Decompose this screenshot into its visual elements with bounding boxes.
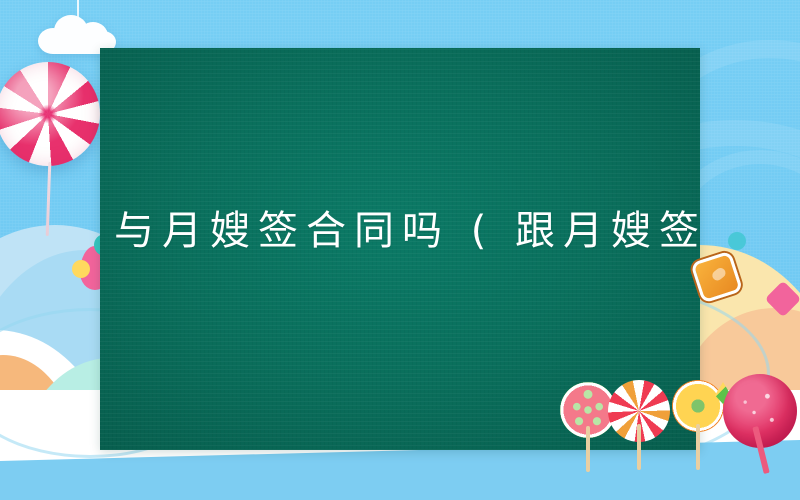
citrus-lollipop-icon [672,380,724,468]
pink-round-lollipop-icon [723,374,797,478]
poster-canvas: 与月嫂签合同吗 ( 跟月嫂签合同 ) [0,0,800,500]
bottom-lollipop-row [0,372,800,482]
swirl-lollipop-icon [0,62,104,240]
pinwheel-lollipop-icon [608,380,670,476]
lollipop-head [0,62,100,166]
candy-yellow [72,260,90,278]
lollipop-stick [46,162,51,236]
lollipop-stick [696,424,700,470]
citrus-center [686,394,710,418]
wrapped-candy-body [690,251,743,304]
poster-title: 与月嫂签合同吗 ( 跟月嫂签合同 ) [114,203,700,259]
lollipop-stick [637,424,641,470]
wrapped-candy-shine [710,266,727,282]
cloud-shape [38,14,116,52]
tiny-teal-candy-icon [728,232,746,250]
lollipop-stick [586,426,590,472]
